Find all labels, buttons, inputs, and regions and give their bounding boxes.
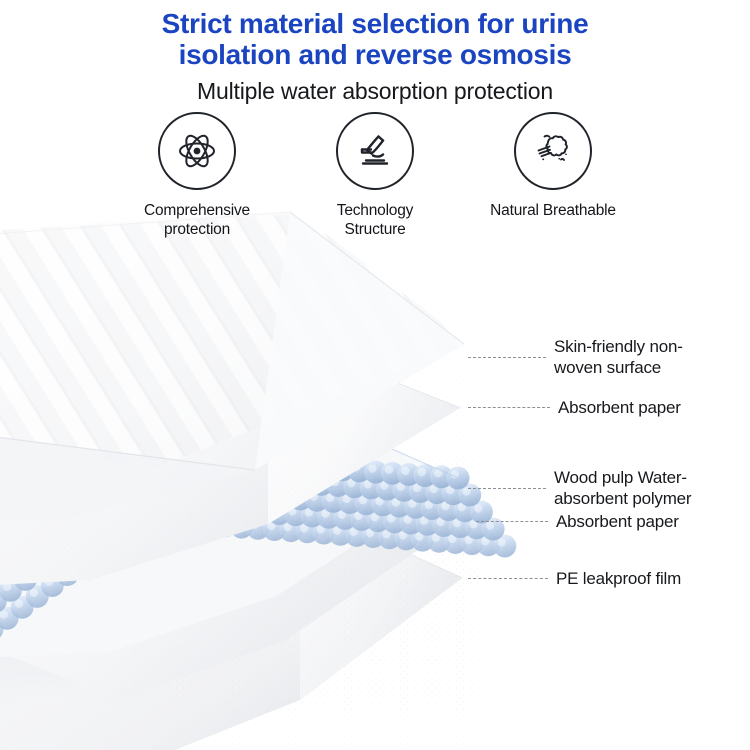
callout-label: Absorbent paper — [556, 511, 679, 532]
leader-line — [468, 407, 550, 408]
callout-label: Skin-friendly non- woven surface — [554, 336, 683, 378]
callout-pe-leakproof-film: PE leakproof film — [468, 568, 681, 589]
callout-group: Skin-friendly non- woven surface Absorbe… — [0, 0, 750, 750]
callout-label: PE leakproof film — [556, 568, 681, 589]
leader-line — [468, 357, 546, 358]
callout-label: Absorbent paper — [558, 397, 681, 418]
callout-skin-friendly-nonwoven: Skin-friendly non- woven surface — [468, 336, 683, 378]
callout-label: Wood pulp Water- absorbent polymer — [554, 467, 691, 509]
leader-line — [468, 488, 546, 489]
callout-absorbent-paper-bottom: Absorbent paper — [476, 511, 679, 532]
infographic-canvas: Strict material selection for urine isol… — [0, 0, 750, 750]
leader-line — [476, 521, 548, 522]
callout-wood-pulp-polymer: Wood pulp Water- absorbent polymer — [468, 467, 691, 509]
leader-line — [468, 578, 548, 579]
callout-absorbent-paper-top: Absorbent paper — [468, 397, 681, 418]
